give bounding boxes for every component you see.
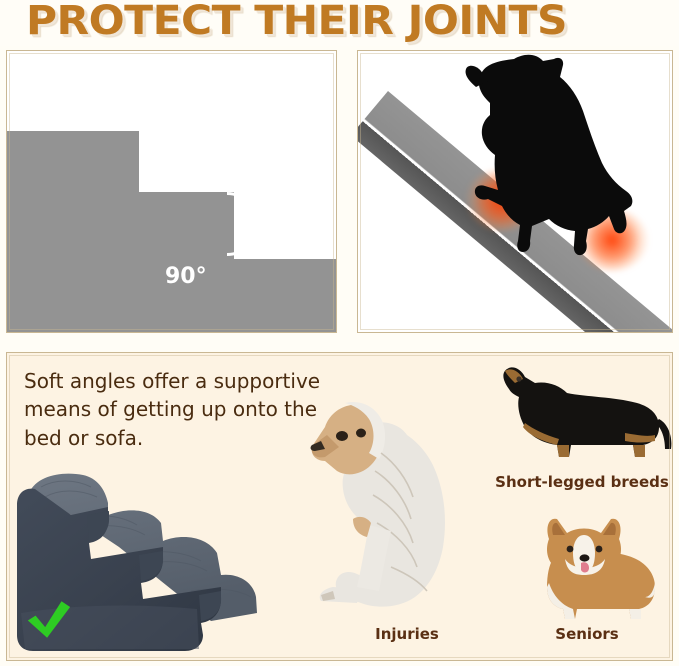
red-x-icon: [374, 329, 416, 333]
title-bar: PROTECT THEIR JOINTS: [0, 0, 679, 46]
photo-corgi: [505, 513, 673, 633]
angle-label: 90°: [165, 264, 207, 289]
infographic-page: PROTECT THEIR JOINTS 90° Soft angles off…: [0, 0, 679, 666]
hard-steps-panel: 90°: [6, 50, 337, 333]
photo-dachshund: [475, 353, 673, 473]
step-tread-middle: [139, 192, 234, 333]
red-x-icon: [19, 331, 61, 333]
photo-label-seniors: Seniors: [507, 625, 667, 643]
page-title: PROTECT THEIR JOINTS: [26, 0, 567, 43]
solution-body-text: Soft angles offer a supportive means of …: [24, 367, 324, 452]
climbing-dog-silhouette: [436, 51, 636, 291]
green-check-icon: [25, 597, 73, 641]
steep-ramp-panel: [357, 50, 673, 333]
photo-label-injuries: Injuries: [327, 625, 487, 643]
photo-label-short-legged: Short-legged breeds: [487, 473, 673, 491]
photo-injured-dog: [295, 391, 495, 631]
step-tread-lower: [7, 131, 139, 333]
step-tread-upper: [234, 259, 337, 333]
soft-angle-solution-panel: Soft angles offer a supportive means of …: [6, 352, 673, 661]
